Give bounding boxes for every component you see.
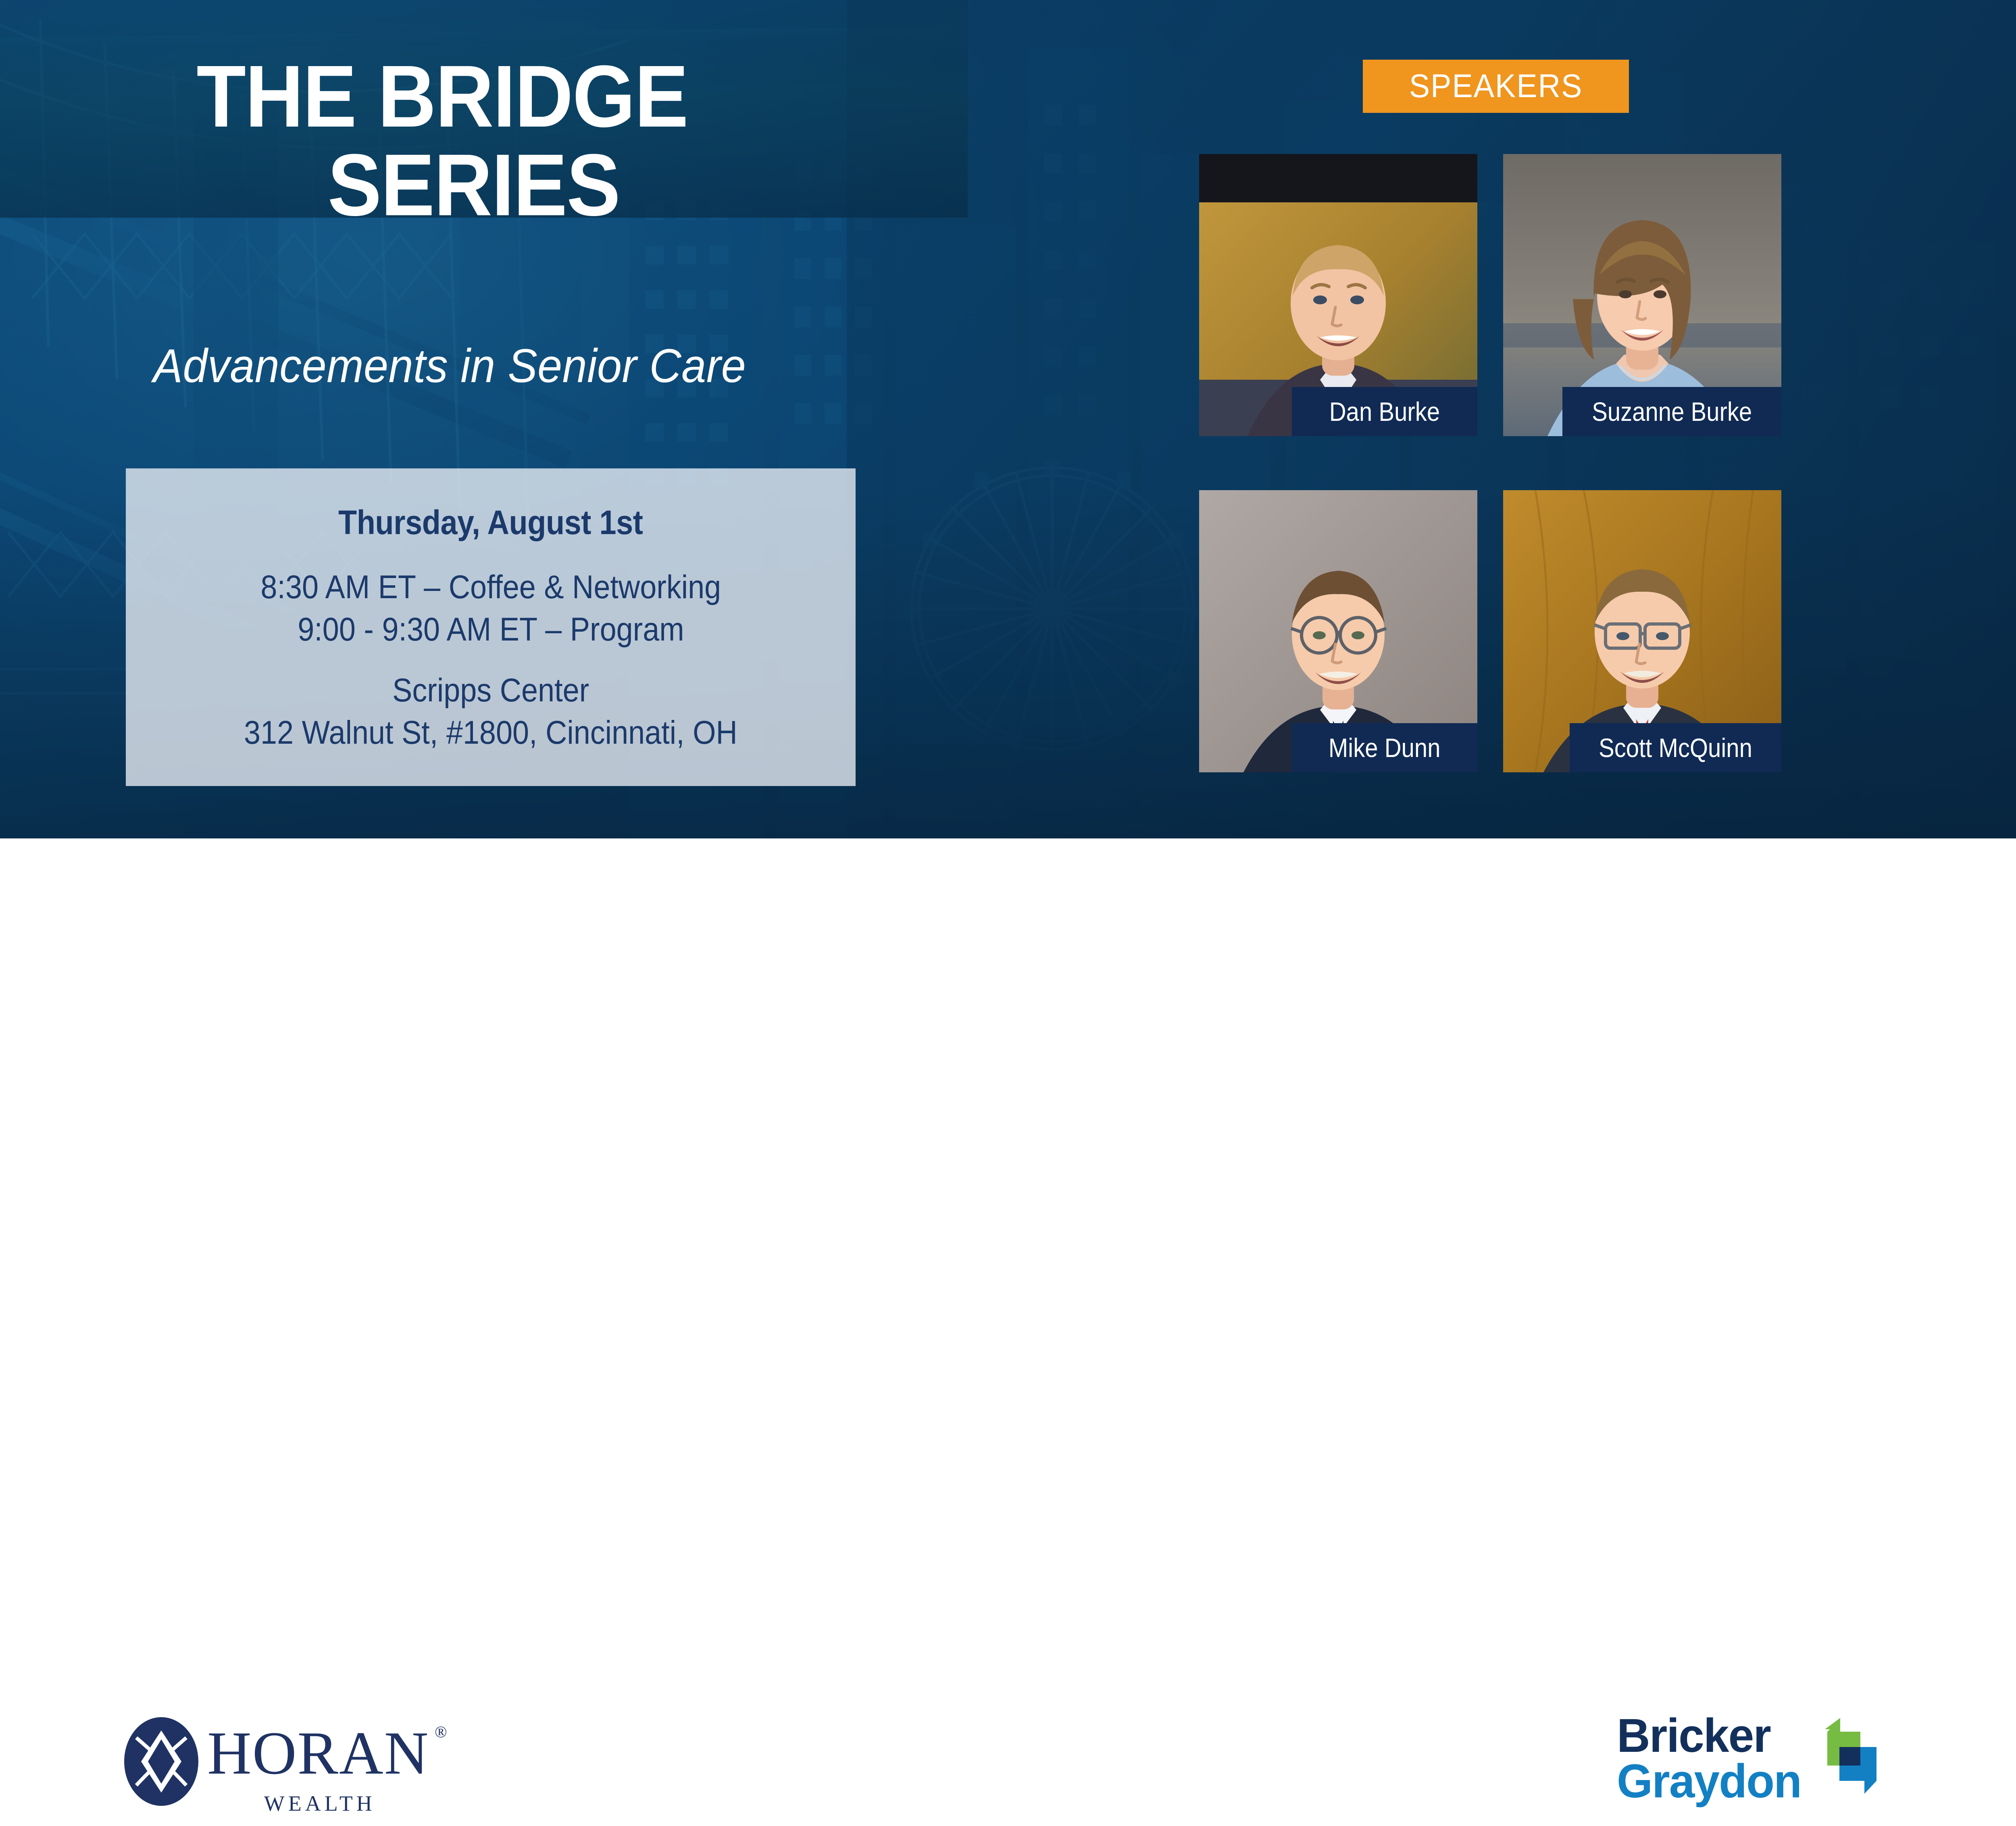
horan-mark-icon bbox=[121, 1715, 202, 1808]
title-line-1: THE BRIDGE bbox=[36, 52, 863, 141]
speakers-badge: SPEAKERS bbox=[1363, 60, 1629, 113]
registered-trademark-icon: ® bbox=[435, 1724, 448, 1740]
hero-banner: THE BRIDGE SERIES Advancements in Senior… bbox=[0, 0, 2016, 838]
speaker-name: Mike Dunn bbox=[1329, 732, 1441, 763]
speaker-name: Scott McQuinn bbox=[1599, 732, 1752, 763]
speaker-card-mike-dunn[interactable]: Mike Dunn bbox=[1199, 490, 1477, 772]
event-schedule-line-1: 8:30 AM ET – Coffee & Networking bbox=[260, 566, 721, 609]
speaker-card-scott-mcquinn[interactable]: Scott McQuinn bbox=[1503, 490, 1781, 772]
bricker-graydon-mark-icon bbox=[1813, 1717, 1889, 1798]
speaker-name-tag: Dan Burke bbox=[1292, 387, 1477, 436]
horan-wordmark-block: HORAN® WEALTH bbox=[207, 1715, 429, 1816]
event-venue-name: Scripps Center bbox=[392, 670, 589, 712]
event-details-panel: Thursday, August 1st 8:30 AM ET – Coffee… bbox=[126, 468, 856, 786]
speaker-name: Suzanne Burke bbox=[1592, 396, 1752, 427]
speaker-card-suzanne-burke[interactable]: Suzanne Burke bbox=[1503, 154, 1781, 436]
horan-wordmark-text: HORAN bbox=[207, 1719, 429, 1787]
speaker-name: Dan Burke bbox=[1329, 396, 1440, 427]
speaker-card-dan-burke[interactable]: Dan Burke bbox=[1199, 154, 1477, 436]
speaker-name-tag: Mike Dunn bbox=[1292, 723, 1477, 772]
speakers-badge-label: SPEAKERS bbox=[1409, 67, 1583, 105]
bricker-graydon-logo: Bricker Graydon bbox=[1617, 1713, 1899, 1826]
bricker-graydon-wordmark: Bricker Graydon bbox=[1617, 1713, 1807, 1805]
speaker-name-tag: Scott McQuinn bbox=[1570, 723, 1781, 772]
event-date: Thursday, August 1st bbox=[338, 503, 643, 542]
bricker-word: Bricker bbox=[1617, 1713, 1801, 1759]
event-schedule-line-2: 9:00 - 9:30 AM ET – Program bbox=[298, 609, 684, 651]
footer-bar: HORAN® WEALTH Bricker Graydon bbox=[0, 838, 2016, 1058]
horan-wealth-logo: HORAN® WEALTH bbox=[121, 1715, 429, 1816]
page-subtitle: Advancements in Senior Care bbox=[31, 339, 868, 393]
speaker-name-tag: Suzanne Burke bbox=[1562, 387, 1781, 436]
horan-subtitle: WEALTH bbox=[207, 1791, 429, 1816]
speaker-grid: Dan Burke bbox=[1199, 154, 1781, 783]
event-venue-address: 312 Walnut St, #1800, Cincinnati, OH bbox=[244, 712, 737, 754]
page-title: THE BRIDGE SERIES bbox=[0, 52, 899, 230]
title-line-2: SERIES bbox=[36, 141, 863, 230]
horan-wordmark: HORAN® bbox=[207, 1722, 429, 1784]
graydon-word: Graydon bbox=[1617, 1759, 1801, 1804]
